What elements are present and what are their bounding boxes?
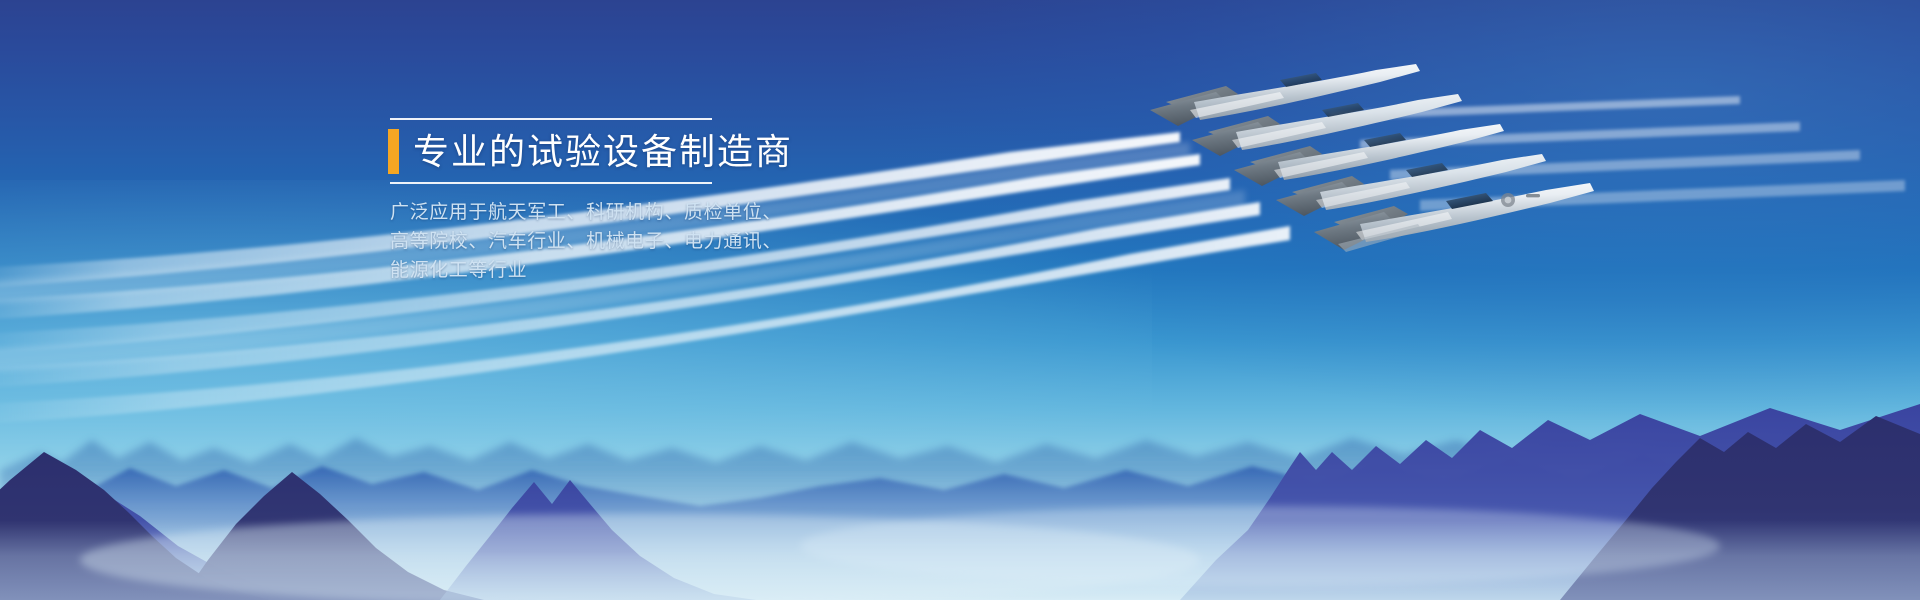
sky-glow-right	[864, 0, 1920, 420]
subtitle-line-1: 广泛应用于航天军工、科研机构、质检单位、	[390, 198, 988, 227]
jet-2	[1192, 94, 1462, 156]
contrail-streaks	[0, 0, 1920, 600]
misty-mountain-range	[0, 0, 1920, 600]
banner-subtitle: 广泛应用于航天军工、科研机构、质检单位、 高等院校、汽车行业、机械电子、电力通讯…	[390, 198, 988, 285]
rule-top	[390, 118, 712, 120]
subtitle-line-3: 能源化工等行业	[390, 256, 988, 285]
page-title: 专业的试验设备制造商	[413, 131, 793, 173]
headline-row: 专业的试验设备制造商	[388, 129, 988, 174]
subtitle-line-2: 高等院校、汽车行业、机械电子、电力通讯、	[390, 227, 988, 256]
rule-bottom	[390, 182, 712, 184]
banner-text-block: 专业的试验设备制造商 广泛应用于航天军工、科研机构、质检单位、 高等院校、汽车行…	[388, 118, 988, 285]
jet-1	[1150, 64, 1420, 126]
jet-3	[1234, 124, 1504, 186]
jet-5	[1314, 183, 1594, 252]
fighter-jet-formation	[1130, 40, 1910, 300]
hero-banner: 专业的试验设备制造商 广泛应用于航天军工、科研机构、质检单位、 高等院校、汽车行…	[0, 0, 1920, 600]
jet-4	[1276, 154, 1546, 216]
accent-bar	[388, 129, 399, 174]
